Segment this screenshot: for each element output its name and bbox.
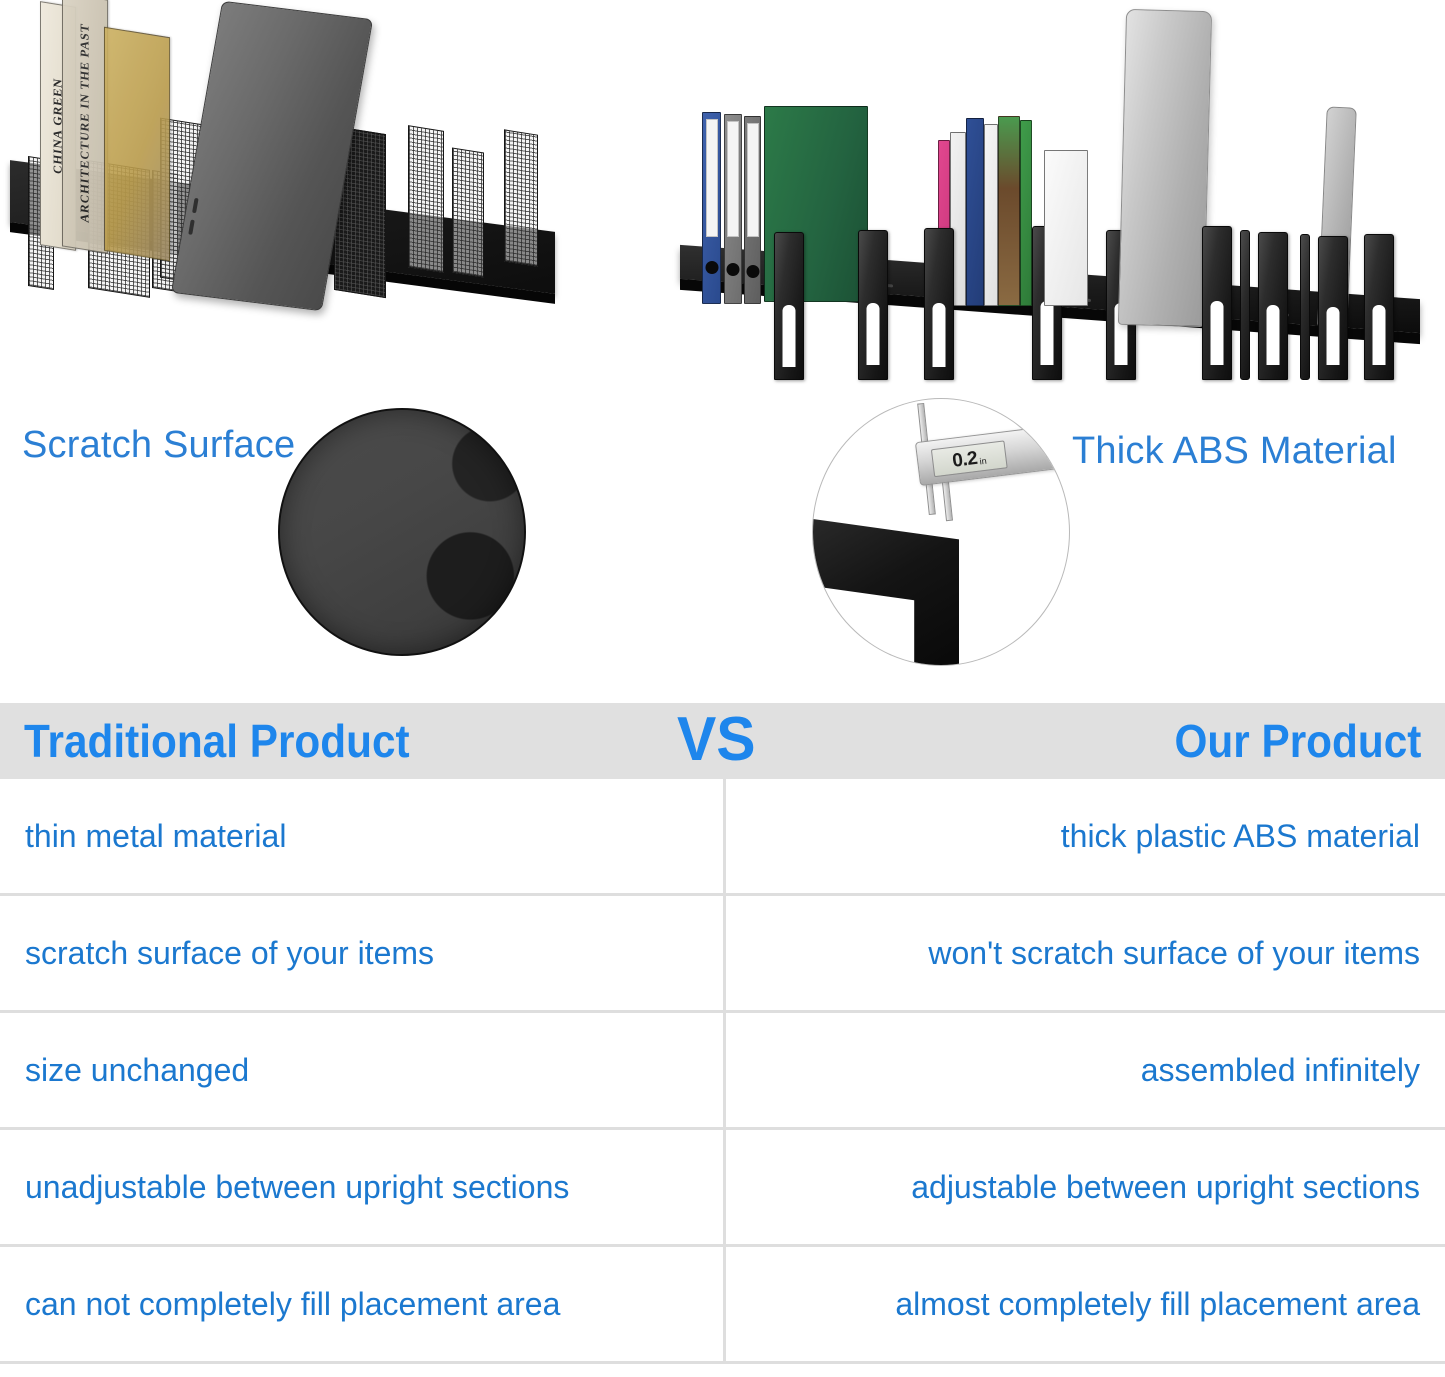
- binder-label: [747, 123, 759, 237]
- abs-divider: [1258, 232, 1288, 380]
- blue-binder: [702, 112, 721, 304]
- binder-label: [706, 119, 718, 237]
- abs-divider: [1318, 236, 1348, 380]
- our-product-photo: [672, 0, 1445, 380]
- caliper-body: 0.2 in: [915, 424, 1069, 486]
- binder-ring: [727, 263, 740, 276]
- caliper-reading: 0.2: [951, 448, 978, 470]
- divider-cutout: [933, 303, 946, 367]
- scratch-surface-label: Scratch Surface: [22, 424, 295, 467]
- traditional-product-cell: size unchanged: [0, 1013, 726, 1127]
- our-product-cell: assembled infinitely: [726, 1013, 1445, 1127]
- magazine: [1020, 120, 1032, 306]
- our-product-cell: adjustable between upright sections: [726, 1130, 1445, 1244]
- table-row: size unchangedassembled infinitely: [0, 1013, 1445, 1130]
- our-product-cell: won't scratch surface of your items: [726, 896, 1445, 1010]
- divider-cutout: [783, 305, 796, 367]
- product-photos-band: CHINA GREEN ARCHITECTURE IN THE PAST: [0, 0, 1445, 390]
- header-traditional-product: Traditional Product: [24, 714, 410, 768]
- binder-ring: [746, 265, 759, 278]
- abs-divider: [1300, 234, 1310, 380]
- binder-ring: [705, 261, 718, 274]
- gray-binder: [724, 114, 742, 304]
- table-row: unadjustable between upright sectionsadj…: [0, 1130, 1445, 1247]
- scratched-disc-icon: [278, 408, 526, 656]
- traditional-product-photo: CHINA GREEN ARCHITECTURE IN THE PAST: [0, 0, 600, 340]
- table-row: can not completely fill placement areaal…: [0, 1247, 1445, 1364]
- feature-detail-band: Scratch Surface 0.2 in Thick ABS Materia…: [0, 390, 1445, 680]
- traditional-product-cell: thin metal material: [0, 779, 726, 893]
- magazine: [966, 118, 984, 306]
- document-stack: [1044, 150, 1088, 306]
- mesh-divider: [452, 147, 484, 277]
- caliper-unit: in: [979, 456, 988, 471]
- book-spine: ARCHITECTURE IN THE PAST: [62, 0, 108, 254]
- abs-divider: [1240, 230, 1250, 380]
- comparison-table-header: Traditional Product VS Our Product: [0, 703, 1445, 779]
- table-row: scratch surface of your itemswon't scrat…: [0, 896, 1445, 1013]
- our-product-cell: almost completely fill placement area: [726, 1247, 1445, 1361]
- abs-divider: [1202, 226, 1232, 380]
- binder-label: [727, 121, 739, 237]
- traditional-product-cell: scratch surface of your items: [0, 896, 726, 1010]
- product-comparison-infographic: CHINA GREEN ARCHITECTURE IN THE PAST: [0, 0, 1445, 1377]
- abs-divider: [1364, 234, 1394, 380]
- header-vs-badge: VS: [677, 709, 756, 771]
- book-cover: [104, 27, 170, 261]
- abs-divider: [774, 232, 804, 380]
- abs-divider: [858, 230, 888, 380]
- abs-edge-sample: [812, 517, 959, 666]
- our-product-cell: thick plastic ABS material: [726, 779, 1445, 893]
- mesh-divider: [408, 125, 444, 273]
- abs-divider: [924, 228, 954, 380]
- comparison-rows: thin metal materialthick plastic ABS mat…: [0, 779, 1445, 1364]
- digital-caliper-icon: 0.2 in: [812, 398, 1070, 666]
- book-title: ARCHITECTURE IN THE PAST: [78, 22, 93, 224]
- divider-cutout: [1211, 301, 1224, 365]
- caliper-display: 0.2 in: [931, 440, 1008, 477]
- traditional-product-cell: unadjustable between upright sections: [0, 1130, 726, 1244]
- silver-laptop: [1118, 9, 1212, 327]
- thick-abs-material-label: Thick ABS Material: [1072, 430, 1397, 473]
- mesh-divider: [504, 129, 538, 266]
- magazine: [998, 116, 1020, 306]
- gray-binder: [744, 116, 761, 304]
- header-our-product: Our Product: [1174, 714, 1421, 768]
- magazine: [984, 124, 998, 306]
- divider-cutout: [1041, 301, 1054, 365]
- divider-cutout: [1373, 305, 1386, 365]
- table-row: thin metal materialthick plastic ABS mat…: [0, 779, 1445, 896]
- traditional-product-cell: can not completely fill placement area: [0, 1247, 726, 1361]
- divider-cutout: [1327, 307, 1340, 365]
- comparison-table: Traditional Product VS Our Product thin …: [0, 703, 1445, 1377]
- divider-cutout: [867, 303, 880, 365]
- divider-cutout: [1267, 305, 1280, 365]
